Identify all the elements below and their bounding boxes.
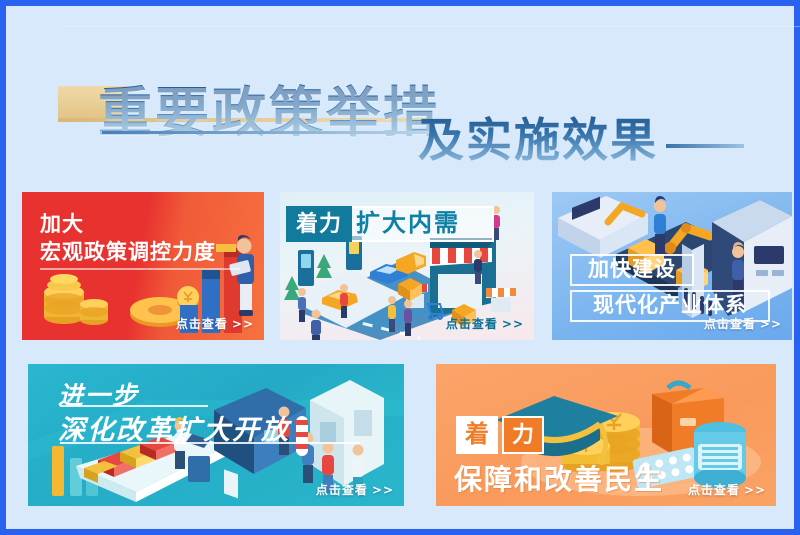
card-title-badge: 着力 <box>286 206 352 242</box>
title-underline-primary <box>102 131 432 134</box>
card-cta-link[interactable]: 点击查看>> <box>316 481 394 498</box>
card-cta-link[interactable]: 点击查看>> <box>688 481 766 498</box>
card-title-frame-line1: 加快建设 <box>570 254 694 286</box>
card-title-line2: 扩大内需 <box>356 206 460 242</box>
card-title-char1: 着 <box>456 416 498 454</box>
card-cta-link[interactable]: 点击查看>> <box>704 315 782 332</box>
card-title-line1: 加快建设 <box>572 256 692 284</box>
card-title-underline1 <box>60 405 208 407</box>
card-cta-label: 点击查看 <box>446 317 498 331</box>
card-cta-label: 点击查看 <box>688 483 740 497</box>
card-title-line2: 宏观政策调控力度 <box>40 236 216 266</box>
card-cta-label: 点击查看 <box>704 317 756 331</box>
card-cta-label: 点击查看 <box>176 317 228 331</box>
card-title-line1: 着力 <box>286 206 352 242</box>
card-cta-link[interactable]: 点击查看>> <box>176 315 254 332</box>
page-header: 重要政策举措 及实施效果 <box>6 36 794 156</box>
card-cta-arrow-icon: >> <box>744 483 766 497</box>
card-cta-label: 点击查看 <box>316 483 368 497</box>
card-cta-arrow-icon: >> <box>372 483 394 497</box>
card-zhuoli-kuoda-neixu[interactable]: 着力 扩大内需 点击查看>> <box>280 192 534 340</box>
panel-highlight <box>66 26 800 27</box>
page-title-sub: 及实施效果 <box>418 104 658 170</box>
card-title-line1: 加大 <box>40 208 84 238</box>
page-root: 重要政策举措 及实施效果 <box>0 0 800 535</box>
card-title-underline2 <box>60 442 360 444</box>
card-title-badge-white: 着 <box>456 416 498 454</box>
title-underline-secondary <box>666 144 744 148</box>
card-baozhang-gaishan-minsheng[interactable]: 着 力 保障和改善民生 点击查看>> <box>436 364 776 506</box>
card-title-char2: 力 <box>504 418 542 452</box>
card-title-line2: 保障和改善民生 <box>454 458 664 498</box>
card-cta-link[interactable]: 点击查看>> <box>446 315 524 332</box>
card-cta-arrow-icon: >> <box>232 317 254 331</box>
card-shenhua-gaige-kaifang[interactable]: 进一步 深化改革扩大开放 点击查看>> <box>28 364 404 506</box>
card-cta-arrow-icon: >> <box>760 317 782 331</box>
card-title-divider <box>40 268 240 270</box>
card-xiandaihua-chanye-tixi[interactable]: 加快建设 现代化产业体系 点击查看>> <box>552 192 792 340</box>
card-cta-arrow-icon: >> <box>502 317 524 331</box>
card-title-badge-orange: 力 <box>502 416 544 454</box>
page-title-main: 重要政策举措 <box>98 68 440 147</box>
card-jiada-hongguan-zhengce[interactable]: 加大 宏观政策调控力度 点击查看>> <box>22 192 264 340</box>
